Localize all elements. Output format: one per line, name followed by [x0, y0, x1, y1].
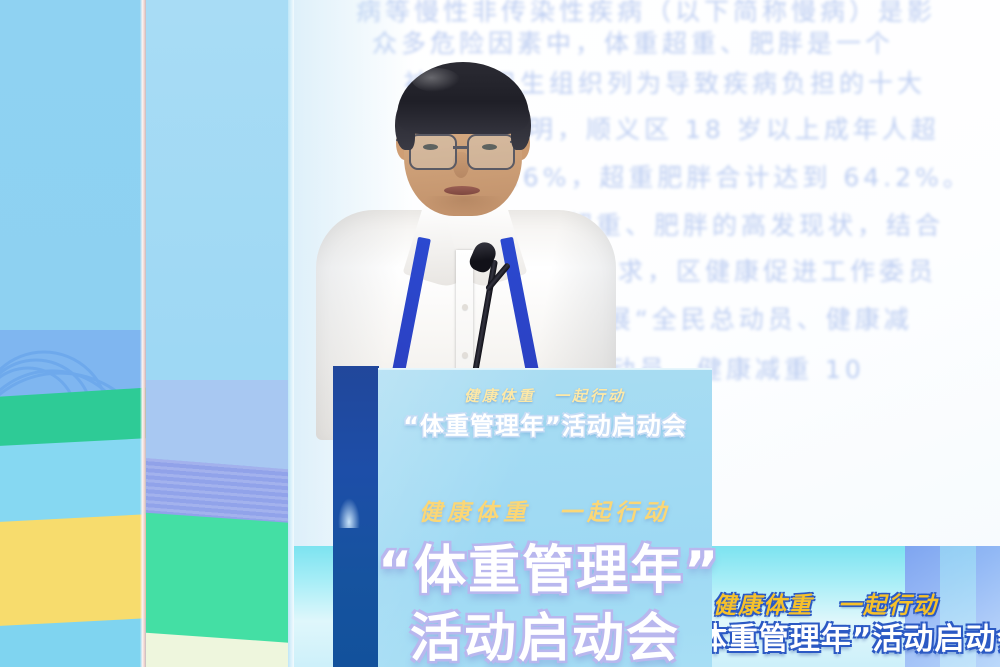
speaker-mouth — [444, 186, 480, 195]
podium-small-slogan: 健康体重 一起行动 — [378, 385, 712, 406]
podium-big-title-line2: 活动启动会 — [378, 596, 712, 667]
band-yellow — [0, 514, 146, 637]
hair-highlight — [412, 68, 460, 92]
shirt-button — [462, 352, 468, 358]
podium-small-title: “体重管理年”活动启动会 — [378, 406, 712, 441]
band-green-mid — [146, 512, 292, 654]
podium-big-slogan: 健康体重 一起行动 — [378, 493, 712, 527]
shirt-button — [462, 304, 468, 310]
eyeglasses-lens-right — [467, 134, 515, 170]
screenshot-root: 病等慢性非传染性疾病（以下简称慢病）是影 众多危险因素中，体重超重、肥胖是一个 … — [0, 0, 1000, 667]
band-cyan-lower — [0, 618, 146, 667]
banner-title: “体重管理年”活动启动会 — [676, 614, 1000, 658]
podium-side-glare — [338, 498, 360, 528]
speaker-figure — [316, 60, 616, 380]
backdrop-left-graphic — [0, 330, 146, 667]
band-light-blue — [146, 380, 292, 472]
backdrop-mid-graphic — [146, 380, 292, 667]
eyeglasses-bridge — [453, 146, 467, 149]
chin-shading — [426, 196, 502, 214]
podium-big-title-line1: “体重管理年” — [378, 528, 712, 603]
screen-line: 众多危险因素中，体重超重、肥胖是一个 — [372, 24, 894, 60]
eyeglasses-lens-left — [409, 134, 457, 170]
